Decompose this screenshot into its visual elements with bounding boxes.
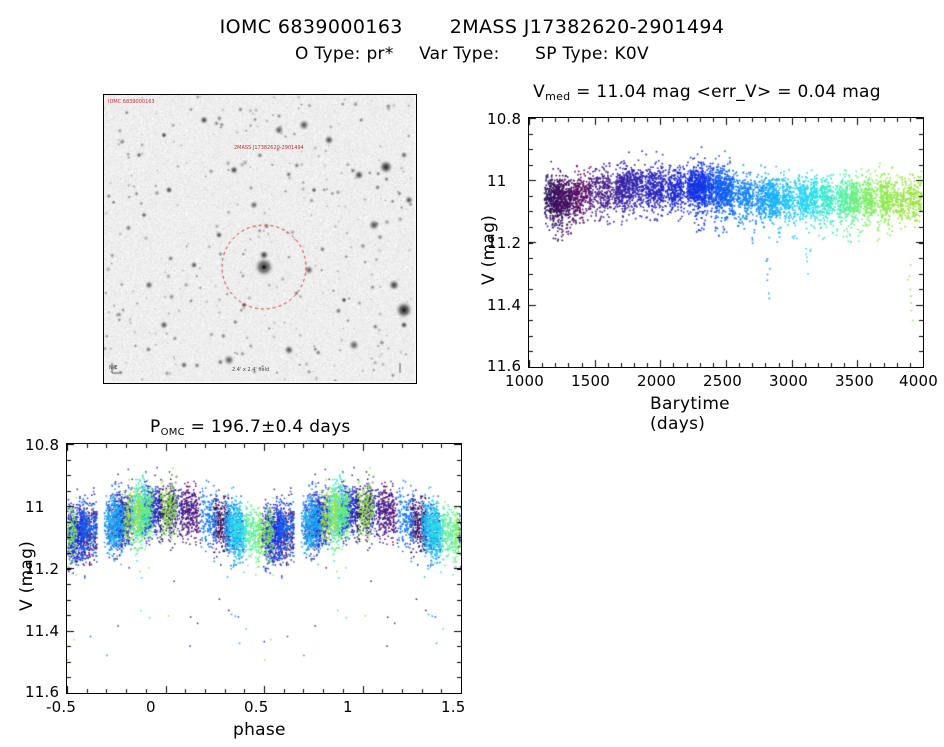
x-tick-3500: 3500 — [835, 372, 874, 390]
vmed-subscript: med — [545, 90, 570, 103]
phase-y-tick-10.8: 10.8 — [25, 436, 59, 454]
finder-scale-label: 2.4' x 2.4' field — [232, 367, 269, 373]
x-axis-label: Barytime (days) — [650, 394, 730, 434]
x-tick-2000: 2000 — [637, 372, 676, 390]
phase-y-axis-label: V (mag) — [17, 541, 37, 611]
phase-x-tick-0.0: 0 — [146, 698, 156, 716]
vmed-symbol: V — [533, 82, 545, 102]
phase-y-tick-11.0: 11 — [25, 498, 45, 516]
finder-chart-image — [104, 95, 414, 381]
x-tick-2500: 2500 — [703, 372, 742, 390]
sptype-label: SP Type: — [535, 44, 609, 64]
phase-x-tick--0.5: -0.5 — [46, 698, 76, 716]
phased-lightcurve-frame — [66, 443, 462, 694]
x-tick-1500: 1500 — [571, 372, 610, 390]
title-line-1: IOMC 6839000163 2MASS J17382620-2901494 — [0, 14, 944, 41]
y-tick-10.8: 10.8 — [487, 110, 521, 128]
finder-center-label: 2MASS J17382620-2901494 — [234, 145, 304, 151]
phase-y-tick-11.4: 11.4 — [25, 622, 59, 640]
y-axis-label: V (mag) — [479, 215, 499, 285]
title-line-2: O Type: pr* Var Type: SP Type: K0V — [0, 41, 944, 67]
y-tick-11.4: 11.4 — [487, 296, 521, 314]
phased-lightcurve-canvas — [67, 444, 461, 693]
x-tick-3000: 3000 — [769, 372, 808, 390]
period-symbol: P — [150, 417, 161, 437]
vartype-label: Var Type: — [419, 44, 500, 64]
vmed-summary: Vmed = 11.04 mag <err_V> = 0.04 mag — [470, 80, 944, 109]
otype-value: pr* — [366, 44, 393, 64]
y-tick-11.0: 11 — [487, 172, 507, 190]
phase-x-tick-1.0: 1 — [343, 698, 353, 716]
vmed-rest: = 11.04 mag <err_V> = 0.04 mag — [570, 82, 880, 102]
phase-x-axis-label: phase — [233, 720, 286, 740]
otype-label: O Type: — [295, 44, 361, 64]
phase-x-tick-1.5: 1.5 — [441, 698, 465, 716]
sptype-value: K0V — [614, 44, 649, 64]
period-value-text: = 196.7±0.4 days — [185, 417, 351, 437]
x-tick-4000: 4000 — [899, 372, 938, 390]
x-tick-1000: 1000 — [505, 372, 544, 390]
twomass-id: 2MASS J17382620-2901494 — [450, 16, 725, 38]
page-header: IOMC 6839000163 2MASS J17382620-2901494 … — [0, 14, 944, 67]
finder-orientation-label: N/E — [109, 365, 118, 371]
finder-chart: IOMC 6839000163 2MASS J17382620-2901494 … — [103, 94, 417, 384]
finder-top-left-label: IOMC 6839000163 — [108, 99, 155, 105]
iomc-id: IOMC 6839000163 — [220, 16, 403, 38]
period-subscript: OMC — [161, 427, 185, 438]
phase-plot-title: POMC = 196.7±0.4 days — [150, 417, 351, 438]
lightcurve-time-frame — [528, 117, 924, 368]
lightcurve-time-canvas — [529, 118, 923, 367]
phase-x-tick-0.5: 0.5 — [244, 698, 268, 716]
